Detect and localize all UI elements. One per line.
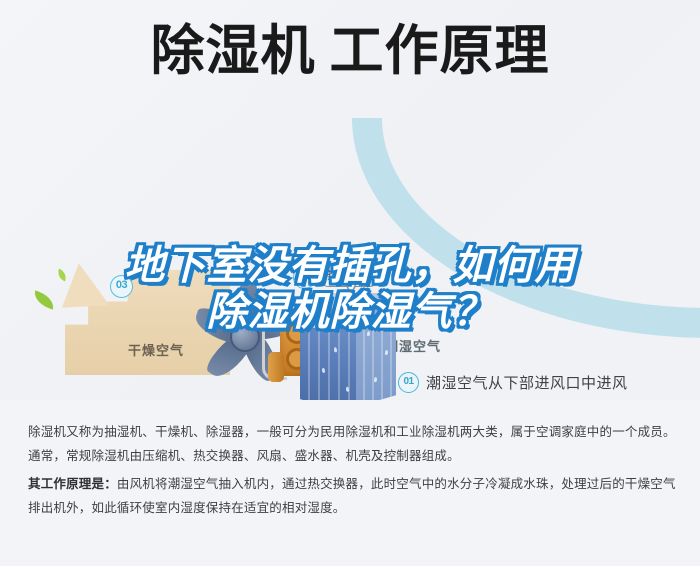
title-part-a: 除湿机 — [151, 21, 316, 81]
description-paragraph-2: 其工作原理是：由风机将潮湿空气抽入机内，通过热交换器，此时空气中的水分子冷凝成水… — [28, 472, 676, 520]
description-section: 除湿机又称为抽湿机、干燥机、除湿器，一般可分为民用除湿机和工业除湿机两大类，属于… — [0, 400, 700, 566]
fan-hub-icon — [230, 322, 260, 352]
page-title: 除湿机工作原理 — [0, 24, 700, 78]
description-paragraph-2-rest: 由风机将潮湿空气抽入机内，通过热交换器，此时空气中的水分子冷凝成水珠，处理过后的… — [28, 477, 676, 515]
humid-air-flow-arrow — [352, 118, 700, 338]
badge-02-heat-exchanger: 02 — [293, 266, 316, 289]
badge-03-dry-air: 03 — [110, 275, 133, 298]
step-line-01: 01 潮湿空气从下部进风口中进风 — [398, 372, 628, 393]
tooltip-pointer-icon — [345, 284, 357, 296]
infographic-page: 除湿机工作原理 潮湿空气 01 干燥空气 03 — [0, 0, 700, 566]
step-text-01: 潮湿空气从下部进风口中进风 — [426, 372, 628, 393]
title-part-b: 工作原理 — [330, 21, 550, 81]
step-badge-01: 01 — [398, 372, 419, 393]
diagram-stage: 潮湿空气 01 干燥空气 03 ↑ — [0, 118, 700, 398]
description-paragraph-2-lead: 其工作原理是： — [28, 477, 117, 491]
heat-exchanger-side — [356, 295, 396, 406]
description-paragraph-1: 除湿机又称为抽湿机、干燥机、除湿器，一般可分为民用除湿机和工业除湿机两大类，属于… — [28, 420, 676, 468]
dry-air-label: 干燥空气 — [128, 340, 184, 359]
